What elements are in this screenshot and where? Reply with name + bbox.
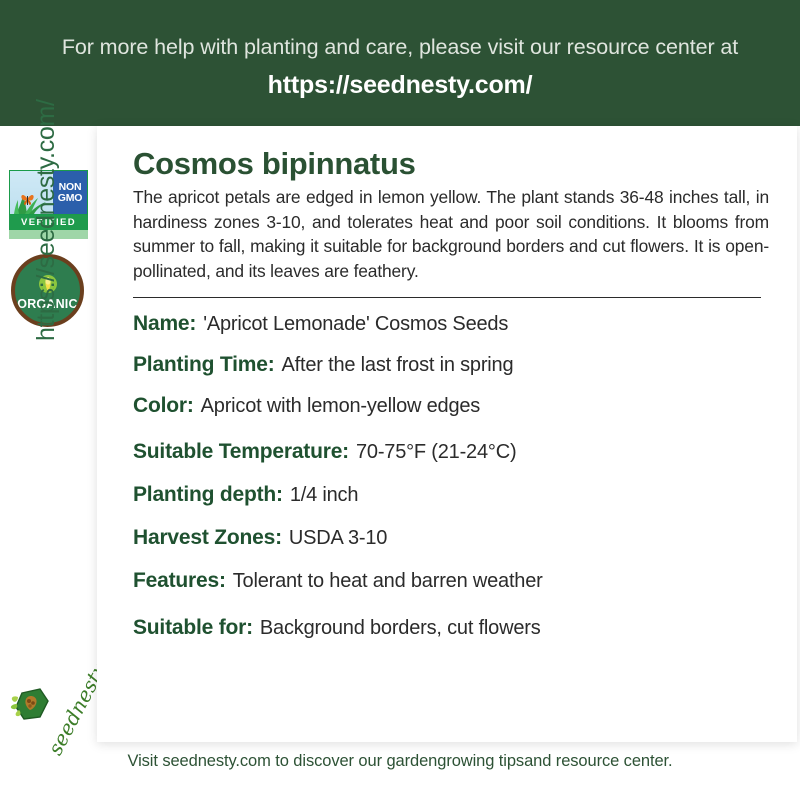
header-banner: For more help with planting and care, pl… xyxy=(0,0,800,126)
non-label: NON xyxy=(59,182,82,193)
plant-description: The apricot petals are edged in lemon ye… xyxy=(133,185,769,283)
detail-row: Features: Tolerant to heat and barren we… xyxy=(133,569,775,593)
detail-label: Features: xyxy=(133,569,226,593)
detail-value: 'Apricot Lemonade' Cosmos Seeds xyxy=(203,313,508,336)
detail-row: Harvest Zones: USDA 3-10 xyxy=(133,526,775,550)
detail-value: 1/4 inch xyxy=(290,484,358,507)
detail-row: Name: 'Apricot Lemonade' Cosmos Seeds xyxy=(133,312,775,336)
detail-label: Name: xyxy=(133,312,196,336)
detail-list: Name: 'Apricot Lemonade' Cosmos Seeds Pl… xyxy=(133,312,775,640)
detail-row: Planting Time: After the last frost in s… xyxy=(133,353,775,377)
detail-label: Color: xyxy=(133,394,194,418)
detail-value: USDA 3-10 xyxy=(289,527,387,550)
detail-value: Apricot with lemon-yellow edges xyxy=(201,395,480,418)
detail-row: Suitable Temperature: 70-75°F (21-24°C) xyxy=(133,440,775,464)
detail-row: Suitable for: Background borders, cut fl… xyxy=(133,616,775,640)
plant-scientific-name: Cosmos bipinnatus xyxy=(133,146,775,182)
detail-value: Tolerant to heat and barren weather xyxy=(233,570,543,593)
left-rail: NON GMO VERIFIED ORGANIC https://seednes… xyxy=(0,126,97,742)
seed-packet-icon xyxy=(8,683,52,725)
section-divider xyxy=(133,297,761,298)
vertical-website-url[interactable]: https://seednesty.com/ xyxy=(32,21,61,341)
footer-note: Visit seednesty.com to discover our gard… xyxy=(0,752,800,771)
detail-value: 70-75°F (21-24°C) xyxy=(356,441,516,464)
detail-label: Suitable for: xyxy=(133,616,253,640)
product-info-card: Cosmos bipinnatus The apricot petals are… xyxy=(97,126,797,742)
header-help-text: For more help with planting and care, pl… xyxy=(62,35,738,60)
gmo-label: GMO xyxy=(58,193,82,204)
detail-row: Planting depth: 1/4 inch xyxy=(133,483,775,507)
detail-value: Background borders, cut flowers xyxy=(260,617,541,640)
detail-label: Suitable Temperature: xyxy=(133,440,349,464)
detail-label: Harvest Zones: xyxy=(133,526,282,550)
header-website-url[interactable]: https://seednesty.com/ xyxy=(268,71,533,100)
detail-label: Planting depth: xyxy=(133,483,283,507)
detail-value: After the last frost in spring xyxy=(282,354,514,377)
detail-row: Color: Apricot with lemon-yellow edges xyxy=(133,394,775,418)
detail-label: Planting Time: xyxy=(133,353,275,377)
brand-logo: seednesty xyxy=(6,661,94,741)
